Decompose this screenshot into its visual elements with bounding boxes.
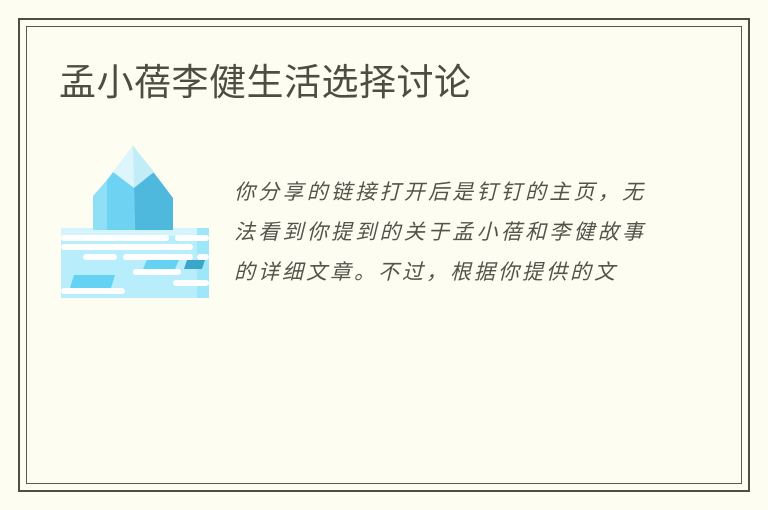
card-body-text: 你分享的链接打开后是钉钉的主页，无法看到你提到的关于孟小蓓和李健故事的详细文章。…: [234, 172, 646, 292]
card-content: 孟小蓓李健生活选择讨论: [20, 20, 748, 490]
iceberg-peak: [93, 146, 173, 230]
iceberg-illustration: [57, 136, 209, 306]
page-title: 孟小蓓李健生活选择讨论: [59, 62, 472, 104]
content-card: 孟小蓓李健生活选择讨论: [18, 18, 750, 492]
